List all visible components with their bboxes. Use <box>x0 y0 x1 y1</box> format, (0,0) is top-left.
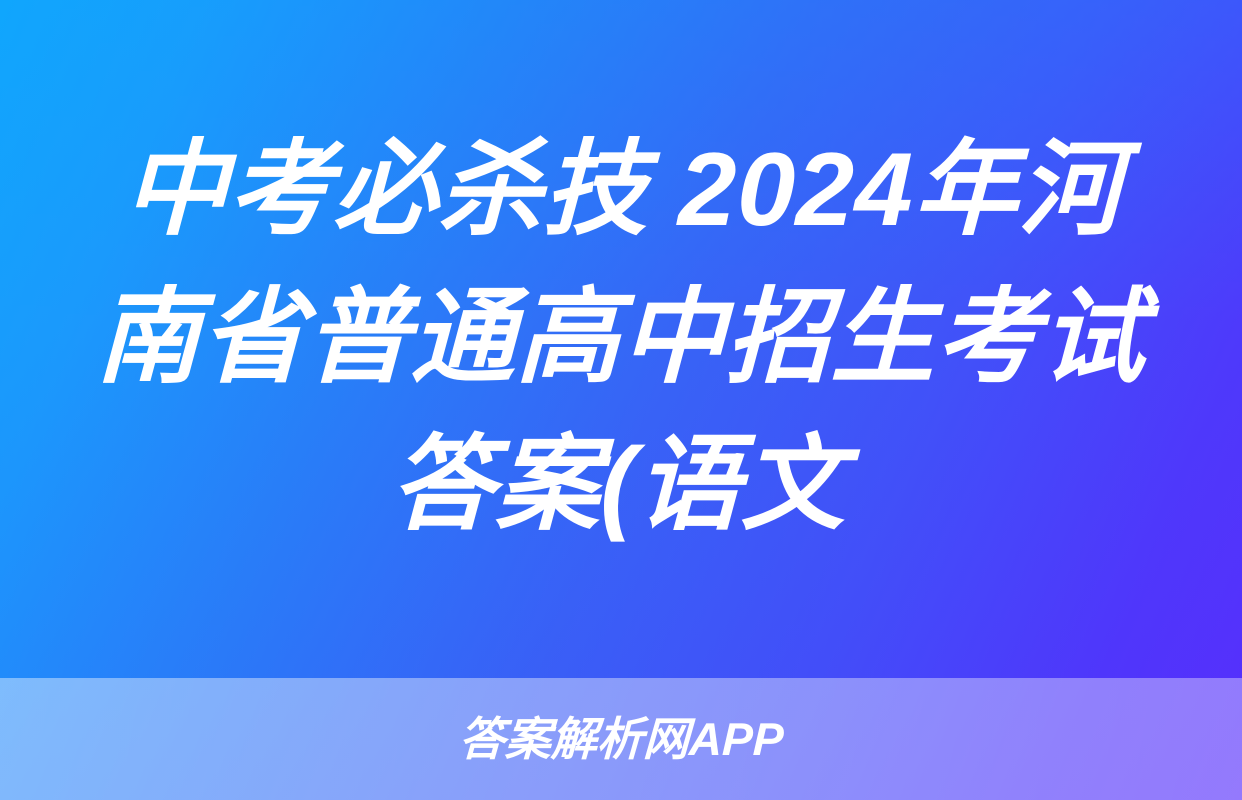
app-watermark-label: 答案解析网APP <box>458 716 784 762</box>
page-title: 中考必杀技 2024年河南省普通高中招生考试答案(语文 <box>74 117 1168 560</box>
title-card: 中考必杀技 2024年河南省普通高中招生考试答案(语文 答案解析网APP <box>0 0 1242 800</box>
title-block: 中考必杀技 2024年河南省普通高中招生考试答案(语文 <box>0 0 1242 678</box>
footer-band: 答案解析网APP <box>0 678 1242 800</box>
